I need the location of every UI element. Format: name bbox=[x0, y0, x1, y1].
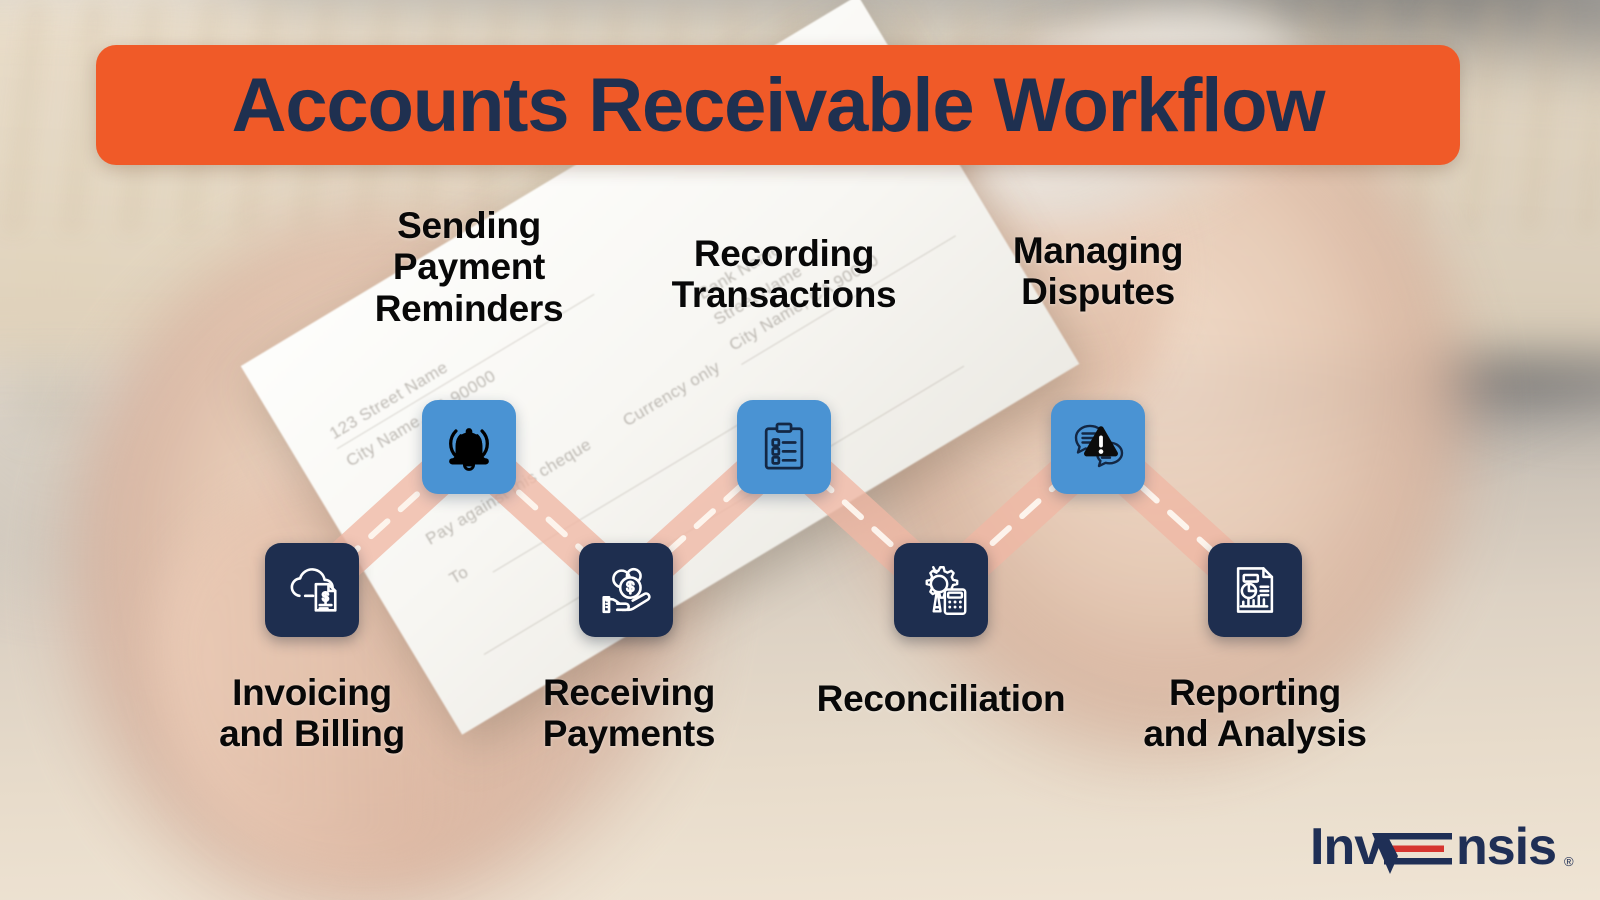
clipboard-checklist-icon[interactable] bbox=[737, 400, 831, 494]
workflow-step-label: Recording Transactions bbox=[644, 233, 924, 316]
page-title: Accounts Receivable Workflow bbox=[232, 62, 1325, 149]
hand-coins-icon[interactable] bbox=[579, 543, 673, 637]
invensis-logo: Inv nsis ® bbox=[1310, 816, 1578, 882]
report-chart-icon[interactable] bbox=[1208, 543, 1302, 637]
workflow-step-label: Reporting and Analysis bbox=[1115, 672, 1395, 755]
svg-text:nsis: nsis bbox=[1456, 818, 1556, 876]
workflow-step-label: Receiving Payments bbox=[489, 672, 769, 755]
workflow-step-label: Invoicing and Billing bbox=[172, 672, 452, 755]
workflow-step-label: Reconciliation bbox=[791, 678, 1091, 719]
bell-icon[interactable] bbox=[422, 400, 516, 494]
gear-calculator-icon[interactable] bbox=[894, 543, 988, 637]
page-title-banner: Accounts Receivable Workflow bbox=[96, 45, 1460, 165]
svg-text:®: ® bbox=[1564, 854, 1574, 869]
workflow-step-label: Managing Disputes bbox=[958, 230, 1238, 313]
cloud-invoice-icon[interactable] bbox=[265, 543, 359, 637]
workflow-step-label: Sending Payment Reminders bbox=[329, 205, 609, 329]
dispute-warning-icon[interactable] bbox=[1051, 400, 1145, 494]
svg-text:Inv: Inv bbox=[1310, 818, 1383, 876]
infographic-canvas: 123 Street Name City Name, CA 90000 Pay … bbox=[0, 0, 1600, 900]
